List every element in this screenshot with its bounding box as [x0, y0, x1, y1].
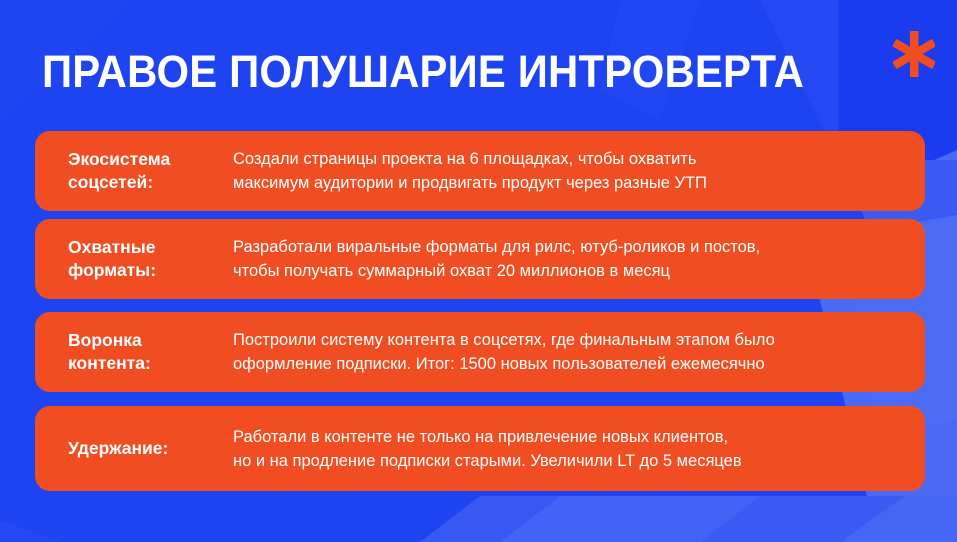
- asterisk-icon: [893, 31, 935, 77]
- info-card[interactable]: Удержание: Работали в контенте не только…: [35, 406, 925, 491]
- info-card[interactable]: Экосистема соцсетей: Создали страницы пр…: [35, 131, 925, 211]
- card-label: Экосистема соцсетей:: [35, 148, 233, 194]
- info-card[interactable]: Воронка контента: Построили систему конт…: [35, 312, 925, 392]
- card-body: Работали в контенте не только на привлеч…: [233, 425, 925, 473]
- card-body: Создали страницы проекта на 6 площадках,…: [233, 147, 925, 195]
- card-label: Охватные форматы:: [35, 236, 233, 282]
- slide-root: ПРАВОЕ ПОЛУШАРИЕ ИНТРОВЕРТА Экосистема с…: [0, 0, 957, 542]
- card-label: Удержание:: [35, 437, 233, 460]
- card-label: Воронка контента:: [35, 329, 233, 375]
- info-card[interactable]: Охватные форматы: Разработали виральные …: [35, 219, 925, 299]
- card-body: Разработали виральные форматы для рилс, …: [233, 235, 925, 283]
- card-body: Построили систему контента в соцсетях, г…: [233, 328, 925, 376]
- page-title: ПРАВОЕ ПОЛУШАРИЕ ИНТРОВЕРТА: [42, 48, 804, 96]
